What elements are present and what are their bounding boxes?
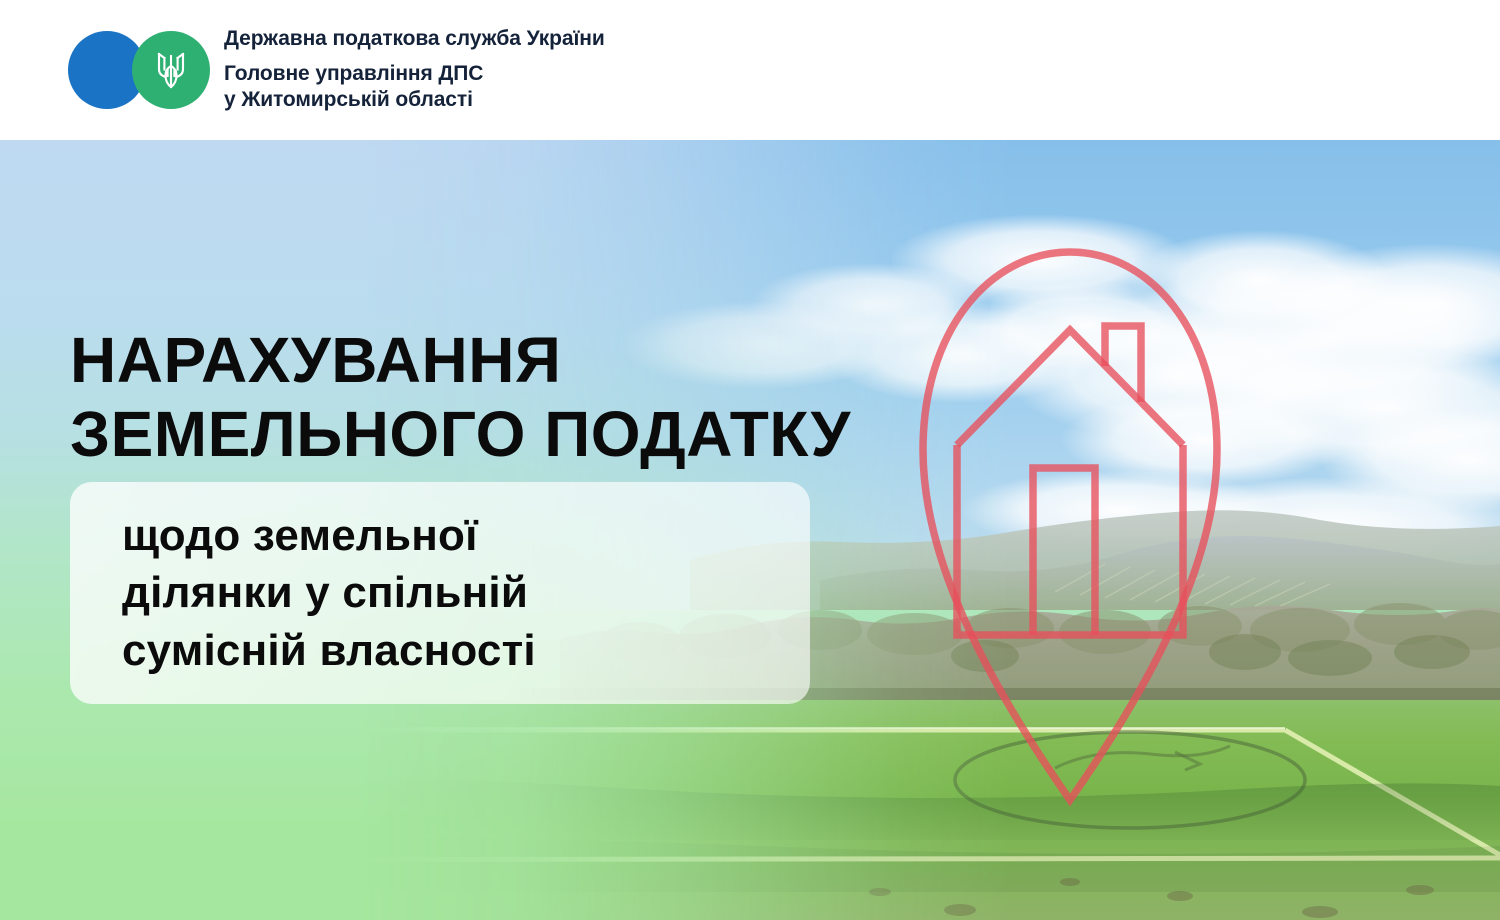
organization-name: Державна податкова служба України Головн… [224, 26, 605, 115]
org-line-1: Державна податкова служба України [224, 26, 605, 53]
organization-logo: Державна податкова служба України Головн… [68, 26, 605, 115]
subtitle-line-2: ділянки у спільній [122, 564, 536, 621]
title-line-1: НАРАХУВАННЯ [70, 325, 851, 397]
poster-canvas: Державна податкова служба України Головн… [0, 0, 1500, 920]
subtitle-text: щодо земельної ділянки у спільній сумісн… [122, 507, 536, 679]
page-title: НАРАХУВАННЯ ЗЕМЕЛЬНОГО ПОДАТКУ [70, 325, 851, 470]
org-line-2: Головне управління ДПС [224, 61, 605, 88]
title-line-2: ЗЕМЕЛЬНОГО ПОДАТКУ [70, 399, 851, 471]
subtitle-line-1: щодо земельної [122, 507, 536, 564]
org-line-3: у Житомирській області [224, 87, 605, 114]
map-pin-house-icon [905, 180, 1235, 820]
subtitle-line-3: сумісній власності [122, 622, 536, 679]
ukrainian-trident-icon [132, 31, 210, 109]
logo-circles [68, 31, 210, 109]
hero-stage: НАРАХУВАННЯ ЗЕМЕЛЬНОГО ПОДАТКУ щодо земе… [0, 140, 1500, 920]
header-bar: Державна податкова служба України Головн… [0, 0, 1500, 140]
subtitle-card: щодо земельної ділянки у спільній сумісн… [70, 482, 810, 704]
